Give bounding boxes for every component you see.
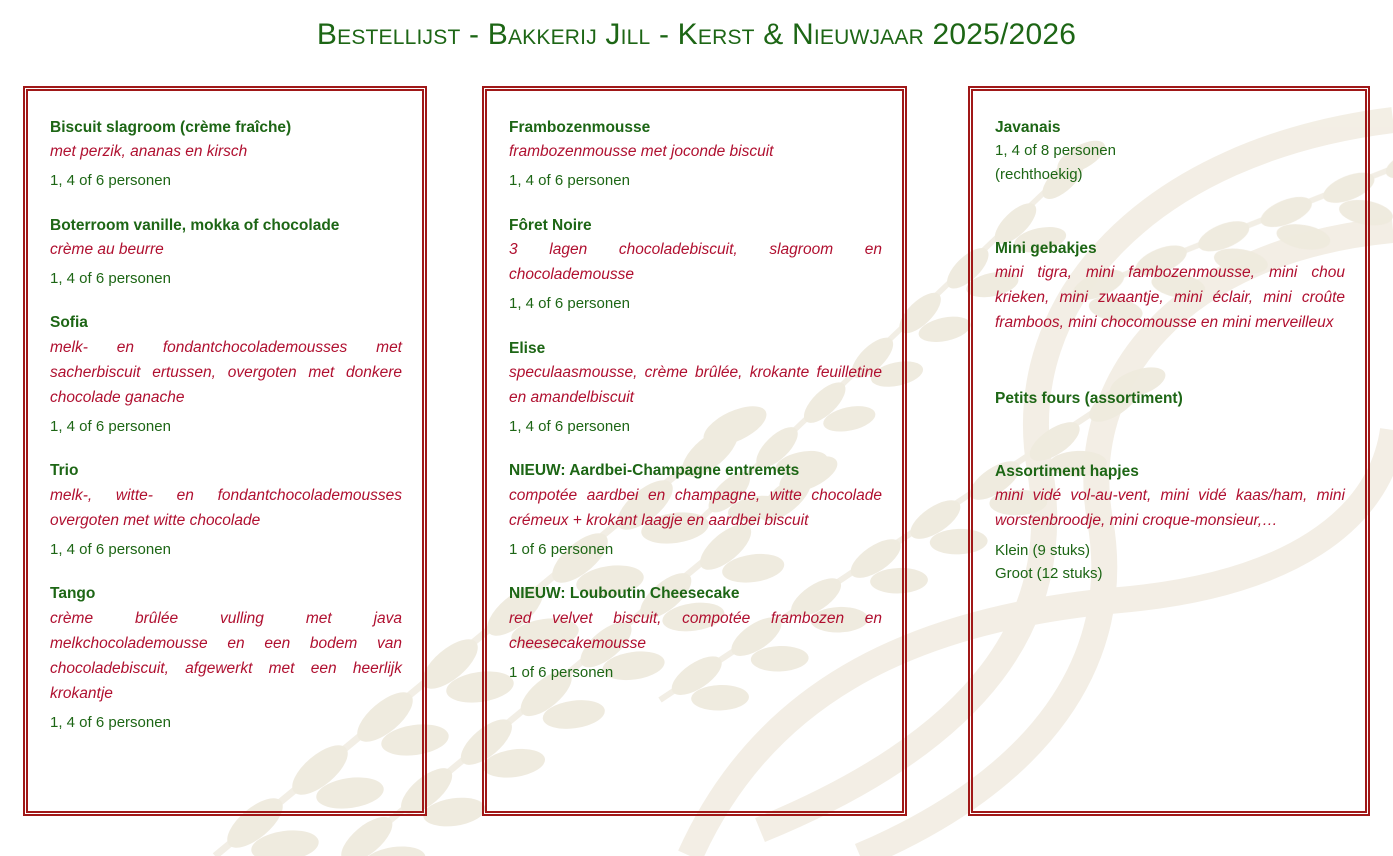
product-description: frambozenmousse met joconde biscuit bbox=[509, 139, 882, 164]
product-name: Tango bbox=[50, 583, 402, 604]
order-list-columns: Biscuit slagroom (crème fraîche) met per… bbox=[0, 86, 1393, 824]
product-column-2: Frambozenmousse frambozenmousse met joco… bbox=[482, 86, 907, 816]
product-name: NIEUW: Louboutin Cheesecake bbox=[509, 583, 882, 604]
product-name: Sofia bbox=[50, 312, 402, 333]
product-item: Frambozenmousse frambozenmousse met joco… bbox=[509, 117, 882, 193]
product-description: 3 lagen chocoladebiscuit, slagroom en ch… bbox=[509, 237, 882, 287]
product-serving: 1 of 6 personen bbox=[509, 661, 882, 684]
product-description: mini tigra, mini fambozenmousse, mini ch… bbox=[995, 260, 1345, 335]
spacer bbox=[995, 208, 1345, 238]
product-name: Javanais bbox=[995, 117, 1345, 138]
page-title: Bestellijst - Bakkerij Jill - Kerst & Ni… bbox=[0, 18, 1393, 52]
product-description: melk-, witte- en fondantchocolademousses… bbox=[50, 483, 402, 533]
product-serving: Klein (9 stuks) Groot (12 stuks) bbox=[995, 539, 1345, 586]
product-column-3: Javanais 1, 4 of 8 personen (rechthoekig… bbox=[968, 86, 1370, 816]
product-serving: 1, 4 of 6 personen bbox=[509, 169, 882, 192]
product-name: Fôret Noire bbox=[509, 215, 882, 236]
product-description: compotée aardbei en champagne, witte cho… bbox=[509, 483, 882, 533]
product-serving: 1, 4 of 6 personen bbox=[50, 538, 402, 561]
product-serving: 1, 4 of 6 personen bbox=[509, 292, 882, 315]
spacer bbox=[995, 358, 1345, 388]
product-serving: 1, 4 of 6 personen bbox=[50, 267, 402, 290]
product-item: Biscuit slagroom (crème fraîche) met per… bbox=[50, 117, 402, 193]
product-item: Mini gebakjes mini tigra, mini fambozenm… bbox=[995, 238, 1345, 336]
product-item: Petits fours (assortiment) bbox=[995, 388, 1345, 409]
product-name: Biscuit slagroom (crème fraîche) bbox=[50, 117, 402, 138]
product-item-new: NIEUW: Aardbei-Champagne entremets compo… bbox=[509, 460, 882, 561]
product-serving: 1, 4 of 6 personen bbox=[50, 415, 402, 438]
product-description: melk- en fondantchocolademousses met sac… bbox=[50, 335, 402, 410]
product-description: speculaasmousse, crème brûlée, krokante … bbox=[509, 360, 882, 410]
product-item: Elise speculaasmousse, crème brûlée, kro… bbox=[509, 338, 882, 439]
product-serving: 1, 4 of 6 personen bbox=[50, 169, 402, 192]
product-item: Tango crème brûlée vulling met java melk… bbox=[50, 583, 402, 734]
product-serving: 1, 4 of 6 personen bbox=[509, 415, 882, 438]
product-column-1: Biscuit slagroom (crème fraîche) met per… bbox=[23, 86, 427, 816]
product-name: Elise bbox=[509, 338, 882, 359]
product-item: Trio melk-, witte- en fondantchocolademo… bbox=[50, 460, 402, 561]
product-item: Assortiment hapjes mini vidé vol-au-vent… bbox=[995, 461, 1345, 585]
product-name: Mini gebakjes bbox=[995, 238, 1345, 259]
product-serving: 1 of 6 personen bbox=[509, 538, 882, 561]
product-item: Javanais 1, 4 of 8 personen (rechthoekig… bbox=[995, 117, 1345, 186]
product-name: NIEUW: Aardbei-Champagne entremets bbox=[509, 460, 882, 481]
product-item: Sofia melk- en fondantchocolademousses m… bbox=[50, 312, 402, 438]
product-serving: 1, 4 of 6 personen bbox=[50, 711, 402, 734]
product-name: Boterroom vanille, mokka of chocolade bbox=[50, 215, 402, 236]
product-name: Petits fours (assortiment) bbox=[995, 388, 1345, 409]
product-description: red velvet biscuit, compotée frambozen e… bbox=[509, 606, 882, 656]
product-item-new: NIEUW: Louboutin Cheesecake red velvet b… bbox=[509, 583, 882, 684]
product-name: Frambozenmousse bbox=[509, 117, 882, 138]
spacer bbox=[995, 431, 1345, 461]
product-description: crème au beurre bbox=[50, 237, 402, 262]
product-description: crème brûlée vulling met java melkchocol… bbox=[50, 606, 402, 706]
product-name: Assortiment hapjes bbox=[995, 461, 1345, 482]
product-item: Boterroom vanille, mokka of chocolade cr… bbox=[50, 215, 402, 291]
product-serving: 1, 4 of 8 personen (rechthoekig) bbox=[995, 139, 1345, 186]
product-description: met perzik, ananas en kirsch bbox=[50, 139, 402, 164]
product-item: Fôret Noire 3 lagen chocoladebiscuit, sl… bbox=[509, 215, 882, 316]
product-name: Trio bbox=[50, 460, 402, 481]
product-description: mini vidé vol-au-vent, mini vidé kaas/ha… bbox=[995, 483, 1345, 533]
